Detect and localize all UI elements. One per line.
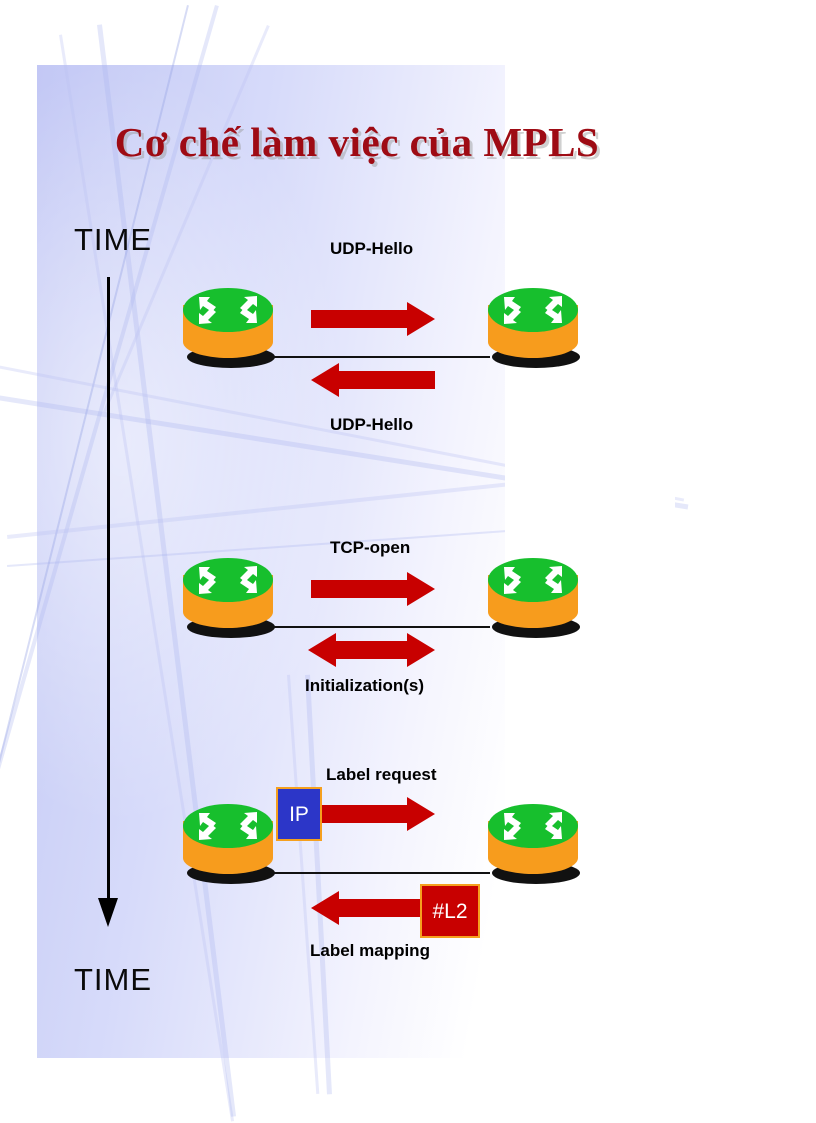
packet-ip-label: IP <box>276 787 322 841</box>
router-arrows-icon <box>183 804 273 848</box>
page-title: Cơ chế làm việc của MPLS <box>37 118 677 166</box>
message-label-udp-hello-top: UDP-Hello <box>330 239 413 259</box>
arrow-down-icon <box>98 898 118 927</box>
router-arrows-icon <box>488 558 578 602</box>
message-label-udp-hello-bottom: UDP-Hello <box>330 415 413 435</box>
message-label-label-request: Label request <box>326 765 437 785</box>
arrow-right-icon <box>311 302 435 336</box>
router-icon[interactable] <box>486 286 582 372</box>
router-arrows-icon <box>183 558 273 602</box>
arrow-right-icon <box>311 797 435 831</box>
message-label-tcp-open: TCP-open <box>330 538 410 558</box>
router-icon[interactable] <box>181 802 277 888</box>
background-swoosh <box>305 675 332 1095</box>
packet-l2-label: #L2 <box>420 884 480 938</box>
router-arrows-icon <box>488 288 578 332</box>
time-label-top: TIME <box>74 222 152 258</box>
arrow-bidirectional-icon <box>308 633 435 667</box>
router-link-line <box>270 356 490 358</box>
router-icon[interactable] <box>181 556 277 642</box>
message-label-label-mapping: Label mapping <box>310 941 430 961</box>
arrow-right-icon <box>311 572 435 606</box>
router-link-line <box>270 626 490 628</box>
router-arrows-icon <box>183 288 273 332</box>
router-icon[interactable] <box>486 802 582 888</box>
arrow-left-icon <box>311 891 435 925</box>
background-swoosh <box>287 675 319 1094</box>
router-icon[interactable] <box>486 556 582 642</box>
router-icon[interactable] <box>181 286 277 372</box>
router-link-line <box>270 872 490 874</box>
time-label-bottom: TIME <box>74 962 152 998</box>
message-label-initialization: Initialization(s) <box>305 676 424 696</box>
time-axis-line <box>107 277 110 914</box>
arrow-left-icon <box>311 363 435 397</box>
router-arrows-icon <box>488 804 578 848</box>
